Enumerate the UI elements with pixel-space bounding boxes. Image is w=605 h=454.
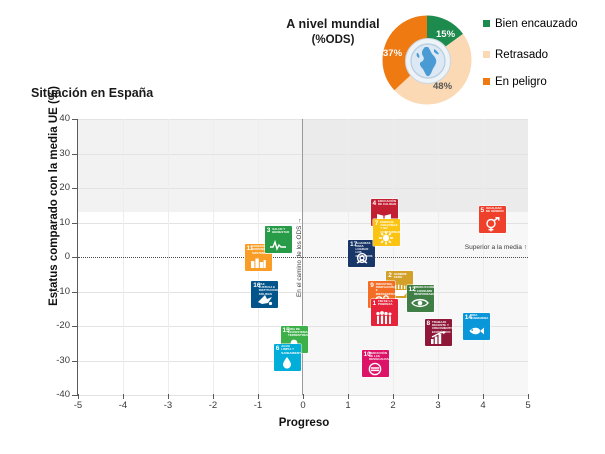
x-tick-label-1: 1	[336, 400, 360, 411]
sdg-title-3: Salud y Bienestar	[272, 228, 291, 235]
sdg-marker-7[interactable]: 7Energía Asequible y No Contaminante	[373, 219, 400, 246]
x-tick-1	[348, 394, 349, 399]
y-tick-label-20: 20	[44, 182, 70, 193]
x-tick-label-2: 2	[381, 400, 405, 411]
pulse-icon	[265, 237, 292, 252]
eu-average-line	[78, 257, 528, 258]
city-icon	[245, 255, 272, 270]
donut-title: A nivel mundial	[278, 17, 388, 32]
legend-label-retrasado: Retrasado	[495, 48, 548, 62]
gridline-y--10	[78, 292, 528, 293]
donut-subtitle: (%ODS)	[278, 34, 388, 46]
sdg-number-6: 6	[276, 345, 280, 352]
x-tick-label--4: -4	[111, 400, 135, 411]
y-tick--20	[72, 326, 77, 327]
x-tick-label--1: -1	[246, 400, 270, 411]
sdg-marker-8[interactable]: 8Trabajo Decente y Crecimiento Económico	[425, 319, 452, 346]
sdg-number-1: 1	[373, 300, 377, 307]
sdg-number-5: 5	[481, 207, 485, 214]
sdg-title-5: Igualdad de Género	[486, 207, 505, 214]
donut-label-retrasado: 48%	[433, 81, 452, 92]
equal-icon	[362, 361, 389, 376]
x-tick-4	[483, 394, 484, 399]
y-tick-label--20: -20	[44, 320, 70, 331]
x-tick-label-4: 4	[471, 400, 495, 411]
y-tick-20	[72, 188, 77, 189]
legend-swatch-en-peligro	[483, 78, 490, 85]
legend-item-bien-encauzado: Bien encauzado	[483, 17, 603, 31]
sdg-title-1: Fin de la Pobreza	[378, 300, 397, 307]
gridline-y-40	[78, 119, 528, 120]
sdg-title-10: Reducción de las Desigualdades	[369, 352, 388, 362]
x-tick-0	[303, 394, 304, 399]
plot-bg-top-left	[78, 119, 303, 212]
sdg-marker-10[interactable]: 10Reducción de las Desigualdades	[362, 350, 389, 377]
sdg-marker-16[interactable]: 16Paz, Justicia e Instituciones Sólidas	[251, 281, 278, 308]
people-icon	[371, 310, 398, 325]
x-tick-label-0: 0	[291, 400, 315, 411]
x-tick--1	[258, 394, 259, 399]
sdg-number-3: 3	[267, 227, 271, 234]
y-tick-label-30: 30	[44, 148, 70, 159]
y-tick-label--10: -10	[44, 286, 70, 297]
water-icon	[274, 355, 301, 370]
dove-icon	[251, 292, 278, 307]
gridline-y--30	[78, 361, 528, 362]
gridline-y-20	[78, 188, 528, 189]
legend-swatch-retrasado	[483, 51, 490, 58]
sdg-number-7: 7	[375, 220, 379, 227]
y-tick-0	[72, 257, 77, 258]
sdg-title-12: Producción y Consumo Responsables	[414, 286, 433, 296]
x-tick-label-3: 3	[426, 400, 450, 411]
legend-label-en-peligro: En peligro	[495, 75, 547, 89]
y-tick-40	[72, 119, 77, 120]
legend-label-bien-encauzado: Bien encauzado	[495, 17, 577, 31]
sdg-number-9: 9	[370, 282, 374, 289]
rings-icon	[348, 251, 375, 266]
sdg-marker-12[interactable]: 12Producción y Consumo Responsables	[407, 285, 434, 312]
donut-chart: 15% 37% 48%	[378, 11, 476, 109]
sdg-marker-1[interactable]: 1Fin de la Pobreza	[371, 299, 398, 326]
donut-label-en-peligro: 37%	[383, 48, 402, 59]
x-tick-label-5: 5	[516, 400, 540, 411]
sdg-number-8: 8	[427, 320, 431, 327]
global-donut-panel: A nivel mundial (%ODS) 15%	[278, 8, 605, 116]
sdg-title-2: Hambre Cero	[394, 273, 413, 280]
figure-root: A nivel mundial (%ODS) 15%	[0, 0, 605, 454]
legend-swatch-bien-encauzado	[483, 20, 490, 27]
y-tick--30	[72, 361, 77, 362]
y-tick-10	[72, 223, 77, 224]
sdg-marker-6[interactable]: 6Agua Limpia y Saneamiento	[274, 344, 301, 371]
x-tick-2	[393, 394, 394, 399]
fish-icon	[463, 324, 490, 339]
donut-label-bien-encauzado: 15%	[436, 29, 455, 40]
eye-icon	[407, 296, 434, 311]
scatter-plot-area: En el camino de los ODS → Superior a la …	[78, 119, 528, 395]
legend-item-en-peligro: En peligro	[483, 75, 603, 89]
sdg-marker-17[interactable]: 17Alianzas para Lograr los Objetivos	[348, 240, 375, 267]
x-tick-label--5: -5	[66, 400, 90, 411]
x-tick-label--2: -2	[201, 400, 225, 411]
y-tick--10	[72, 292, 77, 293]
sdg-marker-14[interactable]: 14Vida Submarina	[463, 313, 490, 340]
x-tick--3	[168, 394, 169, 399]
y-tick-label--30: -30	[44, 355, 70, 366]
y-tick-30	[72, 154, 77, 155]
sdg-number-2: 2	[388, 272, 392, 279]
sdg-title-14: Vida Submarina	[470, 314, 489, 321]
y-tick-label-0: 0	[44, 251, 70, 262]
x-axis-label: Progreso	[229, 417, 379, 429]
vertical-annotation: En el camino de los ODS →	[296, 207, 303, 297]
x-tick-label--3: -3	[156, 400, 180, 411]
y-tick-label--40: -40	[44, 389, 70, 400]
y-tick-label-10: 10	[44, 217, 70, 228]
sdg-marker-5[interactable]: 5Igualdad de Género	[479, 206, 506, 233]
chart-icon	[425, 330, 452, 345]
x-tick--4	[123, 394, 124, 399]
sdg-title-4: Educación de Calidad	[378, 200, 397, 207]
legend-item-retrasado: Retrasado	[483, 48, 603, 62]
gender-icon	[479, 217, 506, 232]
x-tick-3	[438, 394, 439, 399]
sdg-number-4: 4	[373, 200, 377, 207]
sdg-title-6: Agua Limpia y Saneamiento	[281, 345, 300, 355]
gridline-y-30	[78, 154, 528, 155]
y-tick--40	[72, 395, 77, 396]
y-tick-label-40: 40	[44, 113, 70, 124]
plot-bg-top-right	[303, 119, 528, 212]
x-tick--2	[213, 394, 214, 399]
x-tick--5	[78, 394, 79, 399]
sdg-title-15: Vida de Ecosistemas Terrestres	[288, 328, 307, 338]
gridline-y-10	[78, 223, 528, 224]
sdg-marker-3[interactable]: 3Salud y Bienestar	[265, 226, 292, 253]
horizontal-annotation: Superior a la media ↑	[465, 244, 527, 251]
x-tick-5	[528, 394, 529, 399]
globe-icon	[405, 38, 451, 84]
sun-icon	[373, 230, 400, 245]
